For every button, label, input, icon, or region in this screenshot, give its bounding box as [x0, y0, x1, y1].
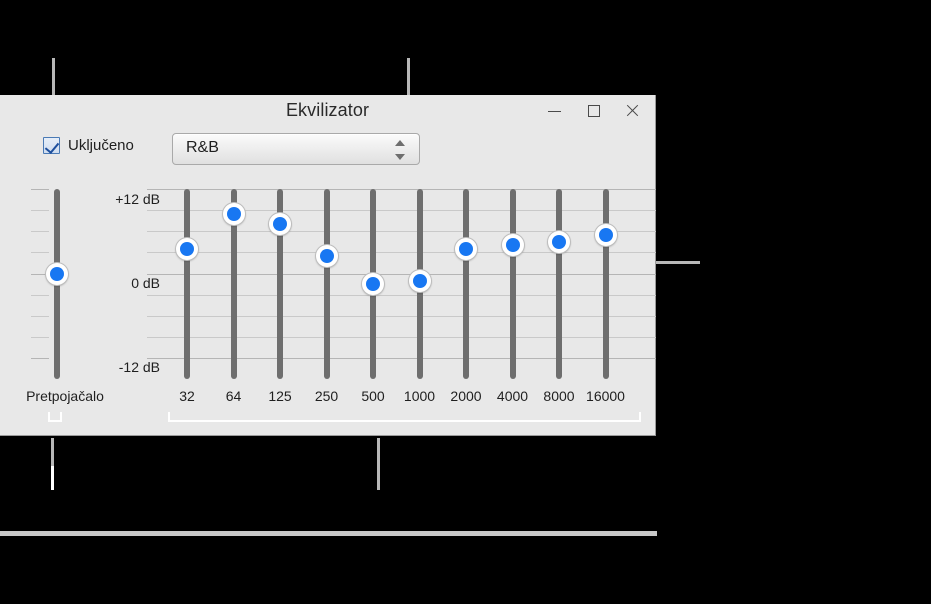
- band-slider-thumb-1000[interactable]: [409, 270, 431, 292]
- enabled-checkbox-row[interactable]: Uključeno: [43, 137, 134, 154]
- band-slider-64[interactable]: [219, 189, 249, 379]
- band-slider-track-16000[interactable]: [603, 189, 609, 379]
- enabled-checkbox[interactable]: [43, 137, 60, 154]
- band-slider-32[interactable]: [172, 189, 202, 379]
- band-slider-thumb-8000[interactable]: [548, 231, 570, 253]
- db-label-mid: 0 dB: [88, 275, 160, 291]
- band-label-4000: 4000: [490, 388, 536, 404]
- band-slider-track-8000[interactable]: [556, 189, 562, 379]
- band-slider-2000[interactable]: [451, 189, 481, 379]
- band-slider-track-4000[interactable]: [510, 189, 516, 379]
- band-label-125: 125: [257, 388, 303, 404]
- band-label-250: 250: [304, 388, 350, 404]
- maximize-icon: [588, 105, 600, 117]
- band-slider-thumb-250[interactable]: [316, 245, 338, 267]
- preset-dropdown-value: R&B: [186, 139, 219, 157]
- band-label-16000: 16000: [583, 388, 629, 404]
- enabled-checkbox-label: Uključeno: [68, 137, 134, 154]
- band-slider-1000[interactable]: [405, 189, 435, 379]
- preamp-slider-thumb[interactable]: [46, 263, 68, 285]
- preamp-slider[interactable]: [42, 189, 72, 379]
- band-slider-250[interactable]: [312, 189, 342, 379]
- screenshot-stage: Ekvilizator Uključeno R&B: [0, 0, 931, 604]
- close-icon: [625, 104, 639, 118]
- band-slider-thumb-500[interactable]: [362, 273, 384, 295]
- band-slider-track-250[interactable]: [324, 189, 330, 379]
- band-slider-thumb-64[interactable]: [223, 203, 245, 225]
- bands-bracket: [168, 412, 641, 422]
- band-label-32: 32: [164, 388, 210, 404]
- band-slider-track-2000[interactable]: [463, 189, 469, 379]
- minimize-icon: [548, 111, 561, 112]
- window-titlebar: Ekvilizator: [0, 95, 655, 129]
- band-slider-500[interactable]: [358, 189, 388, 379]
- band-slider-8000[interactable]: [544, 189, 574, 379]
- db-label-top: +12 dB: [88, 191, 160, 207]
- band-slider-125[interactable]: [265, 189, 295, 379]
- callout-line-preamp-tail: [51, 466, 54, 490]
- band-label-500: 500: [350, 388, 396, 404]
- callout-line-bands-group: [377, 438, 380, 490]
- band-slider-thumb-4000[interactable]: [502, 234, 524, 256]
- band-slider-16000[interactable]: [591, 189, 621, 379]
- band-slider-track-32[interactable]: [184, 189, 190, 379]
- band-slider-thumb-2000[interactable]: [455, 238, 477, 260]
- band-slider-4000[interactable]: [498, 189, 528, 379]
- updown-chevron-icon: [394, 140, 406, 160]
- minimize-button[interactable]: [539, 97, 569, 125]
- band-label-64: 64: [211, 388, 257, 404]
- band-slider-thumb-125[interactable]: [269, 213, 291, 235]
- preamp-bracket: [48, 412, 62, 422]
- preset-dropdown[interactable]: R&B: [172, 133, 420, 165]
- band-slider-thumb-32[interactable]: [176, 238, 198, 260]
- band-label-8000: 8000: [536, 388, 582, 404]
- db-label-bottom: -12 dB: [88, 359, 160, 375]
- band-label-2000: 2000: [443, 388, 489, 404]
- equalizer-window: Ekvilizator Uključeno R&B: [0, 95, 656, 436]
- db-scale: +12 dB 0 dB -12 dB: [80, 181, 160, 381]
- close-button[interactable]: [617, 97, 647, 125]
- equalizer-toolbar: Uključeno R&B: [0, 129, 655, 181]
- equalizer-panel: +12 dB 0 dB -12 dB Pretpojačalo 32641252…: [0, 181, 655, 436]
- preamp-label: Pretpojačalo: [0, 388, 130, 404]
- maximize-button[interactable]: [579, 97, 609, 125]
- band-label-1000: 1000: [397, 388, 443, 404]
- window-bottom-shadow: [0, 531, 657, 536]
- band-slider-thumb-16000[interactable]: [595, 224, 617, 246]
